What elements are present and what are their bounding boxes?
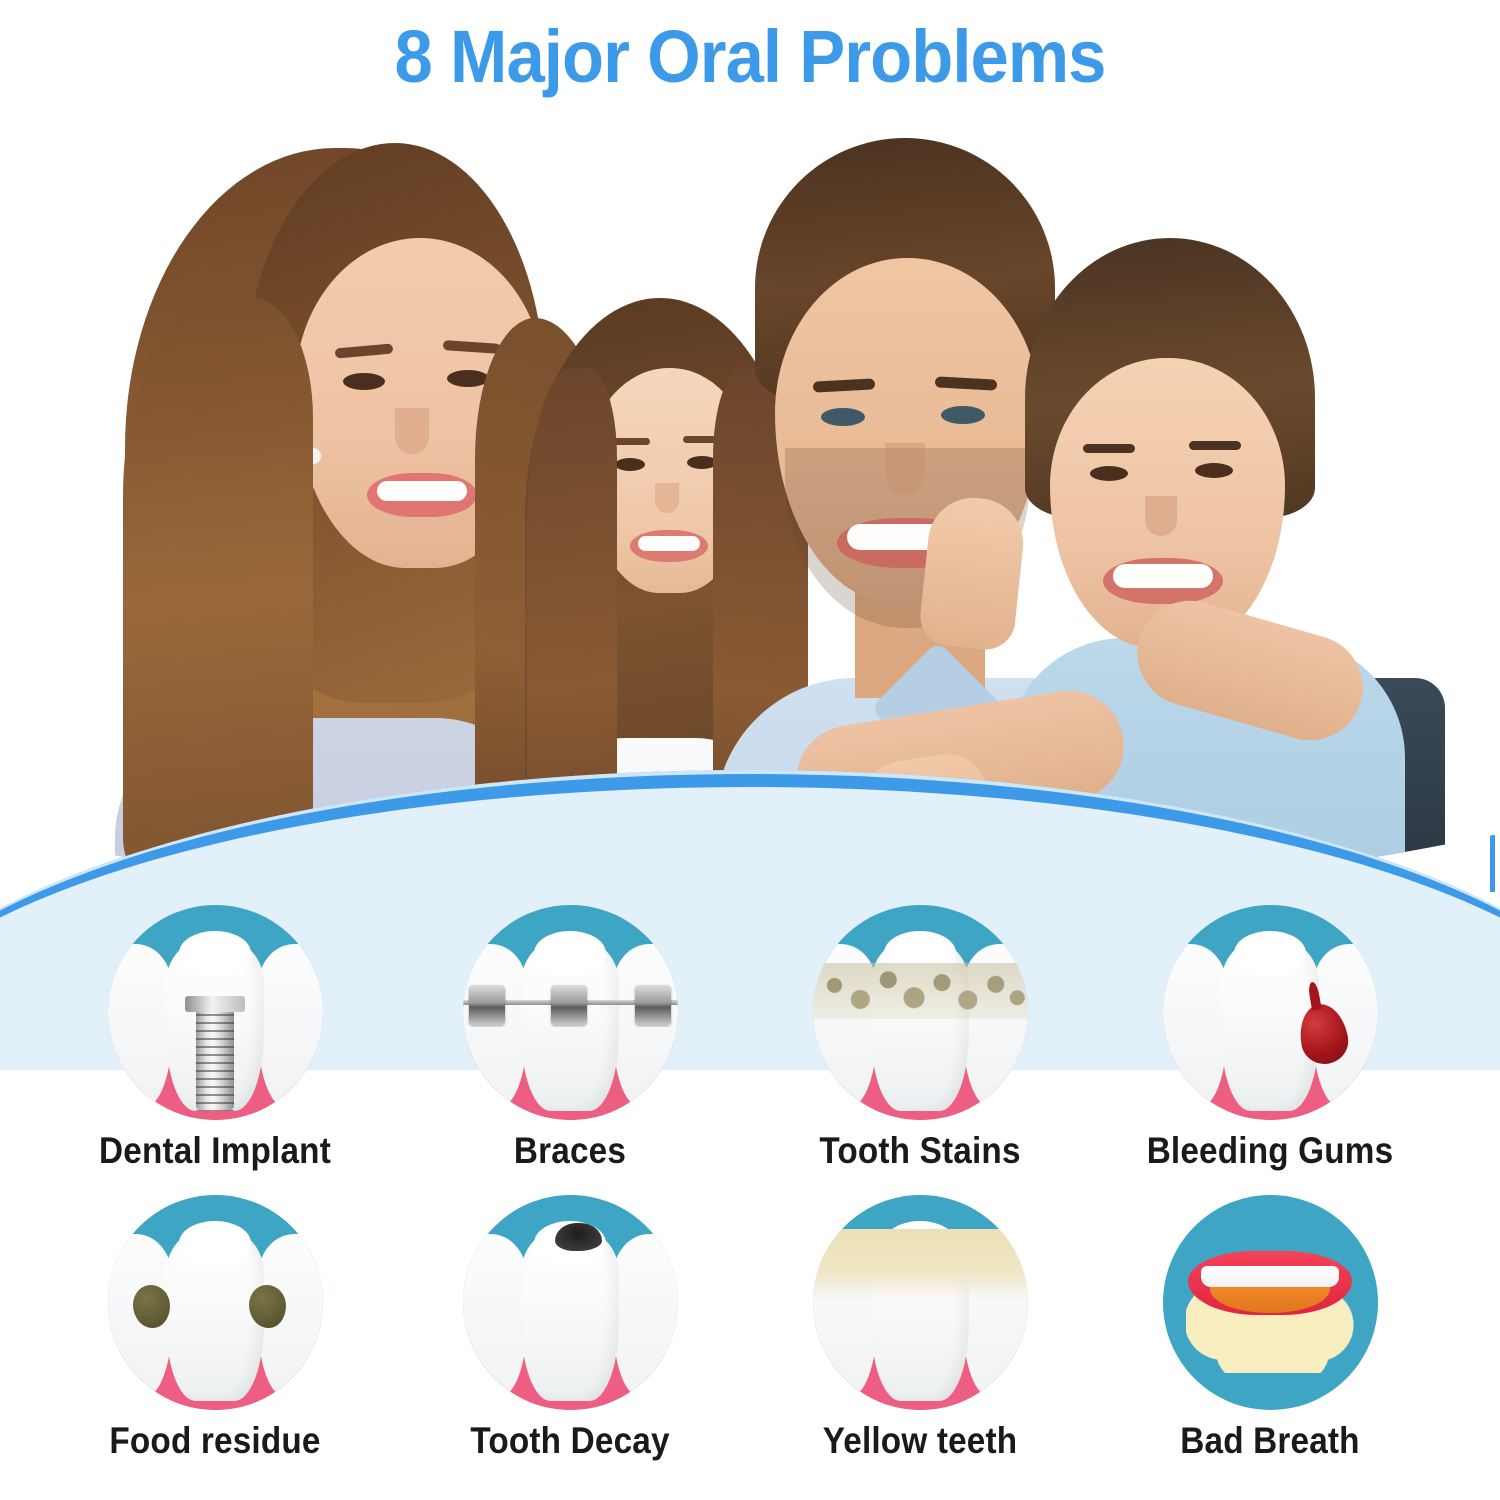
tooth-food-residue-icon [108, 1195, 323, 1410]
father-eye-right [941, 406, 985, 424]
problem-item-food-residue[interactable]: Food residue [45, 1195, 385, 1462]
girl-teeth [638, 536, 700, 551]
problem-item-braces[interactable]: Braces [400, 905, 740, 1172]
problem-item-tooth-stains[interactable]: Tooth Stains [750, 905, 1090, 1172]
girl-hair-front-left [527, 368, 617, 898]
oral-problems-poster: 8 Major Oral Problems [0, 0, 1500, 1500]
problem-label: Food residue [62, 1420, 368, 1462]
mother-teeth [377, 481, 467, 501]
problem-label: Tooth Decay [417, 1420, 723, 1462]
tooth-implant-icon [108, 905, 323, 1120]
mother-hair-front-left [123, 298, 313, 898]
boy-eyebrow-right [1189, 441, 1241, 450]
tooth-yellow-icon [813, 1195, 1028, 1410]
tooth-stains-icon [813, 905, 1028, 1120]
problem-item-tooth-decay[interactable]: Tooth Decay [400, 1195, 740, 1462]
boy-eye-left [1090, 466, 1128, 481]
tooth-cavity-icon [463, 1195, 678, 1410]
mother-eye-right [447, 370, 489, 387]
problem-item-bleeding-gums[interactable]: Bleeding Gums [1100, 905, 1440, 1172]
mouth-bad-breath-icon [1163, 1195, 1378, 1410]
girl-nose [655, 483, 679, 513]
tooth-blood-drop-icon [1163, 905, 1378, 1120]
father-nose [885, 443, 925, 495]
girl-eye-left [615, 458, 645, 471]
mother-nose [395, 408, 429, 454]
boy-nose [1145, 496, 1177, 536]
problem-label: Braces [417, 1130, 723, 1172]
problem-item-dental-implant[interactable]: Dental Implant [45, 905, 385, 1172]
problem-item-yellow-teeth[interactable]: Yellow teeth [750, 1195, 1090, 1462]
boy-teeth [1113, 564, 1213, 588]
tooth-braces-icon [463, 905, 678, 1120]
mother-eye-left [343, 373, 385, 390]
problem-label: Yellow teeth [767, 1420, 1073, 1462]
problem-label: Dental Implant [62, 1130, 368, 1172]
boy-eyebrow-left [1083, 444, 1135, 453]
page-title: 8 Major Oral Problems [53, 14, 1448, 99]
problem-label: Tooth Stains [767, 1130, 1073, 1172]
boy-eye-right [1195, 463, 1233, 478]
family-photo-illustration [95, 118, 1405, 908]
hero-photo-clip [0, 118, 1500, 908]
problem-label: Bleeding Gums [1117, 1130, 1423, 1172]
hero-photo [0, 118, 1500, 908]
father-eye-left [821, 408, 865, 426]
problem-item-bad-breath[interactable]: Bad Breath [1100, 1195, 1440, 1462]
problems-grid: Dental Implant Braces [0, 905, 1500, 1485]
problem-label: Bad Breath [1117, 1420, 1423, 1462]
